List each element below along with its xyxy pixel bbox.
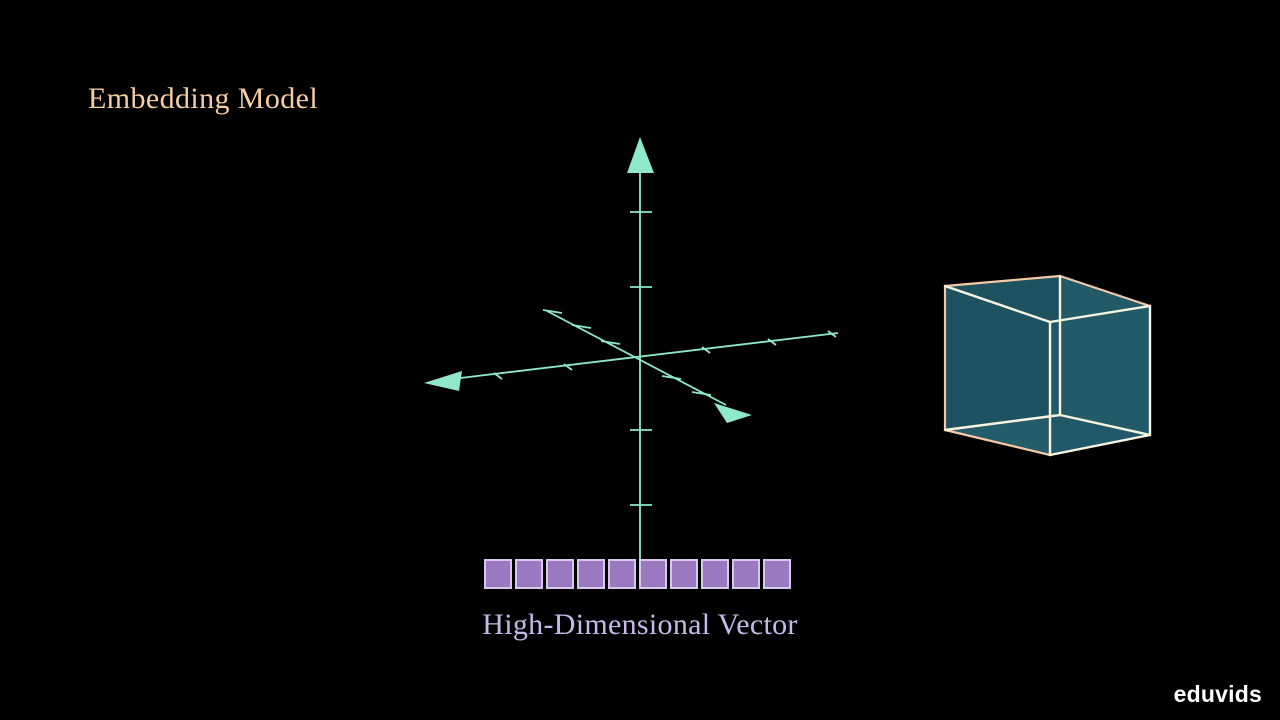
z-axis-arrowhead	[714, 403, 752, 423]
z-axis-tick	[572, 325, 591, 328]
z-axis-tick	[692, 392, 711, 395]
vector-cell	[639, 559, 667, 589]
vector-cell-row	[484, 559, 791, 589]
x-axis-tick	[828, 331, 836, 337]
x-axis-tick	[768, 339, 776, 345]
watermark-logo: eduvids	[1174, 681, 1262, 708]
vector-caption: High-Dimensional Vector	[0, 608, 1280, 642]
z-axis-line	[547, 311, 726, 405]
vector-cell	[763, 559, 791, 589]
x-axis-line	[452, 333, 838, 379]
x-axis-tick	[702, 347, 710, 353]
vector-cell	[732, 559, 760, 589]
z-axis-tick	[543, 310, 562, 313]
cube-face-front	[1060, 276, 1150, 435]
vector-cell	[484, 559, 512, 589]
x-axis-arrowhead	[424, 371, 462, 391]
x-axis-tick	[564, 364, 572, 370]
y-axis-arrowhead	[627, 137, 654, 173]
vector-cell	[608, 559, 636, 589]
z-axis-tick	[601, 341, 620, 344]
cube-graphic	[900, 250, 1200, 480]
vector-cell	[577, 559, 605, 589]
vector-cell	[670, 559, 698, 589]
vector-cell	[701, 559, 729, 589]
page-title: Embedding Model	[88, 82, 318, 116]
x-axis-tick	[494, 373, 502, 379]
slide-canvas: Embedding Model	[0, 0, 1280, 720]
vector-cell	[546, 559, 574, 589]
vector-cell	[515, 559, 543, 589]
z-axis-tick	[662, 376, 681, 379]
